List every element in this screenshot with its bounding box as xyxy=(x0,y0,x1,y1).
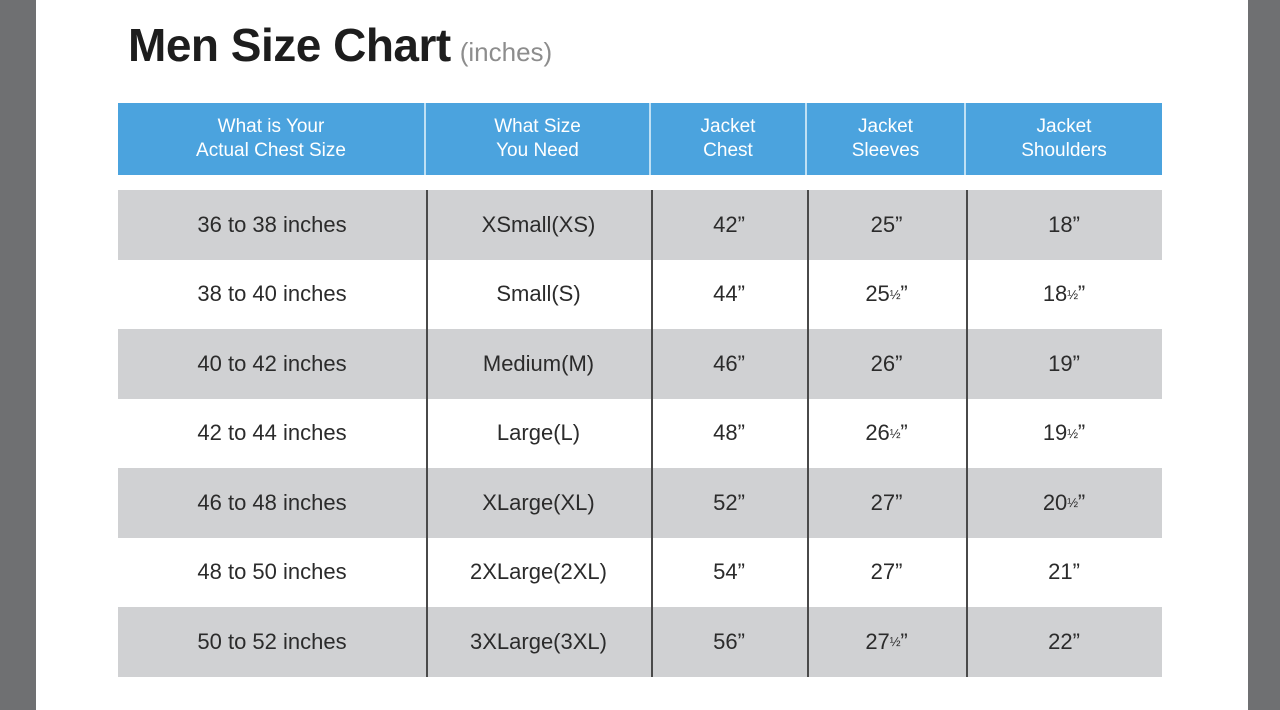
column-header-line: You Need xyxy=(494,139,581,163)
column-header-jacket-chest: Jacket Chest xyxy=(651,103,807,175)
column-header-actual-chest-size: What is Your Actual Chest Size xyxy=(118,103,426,175)
cell-size-you-need: XLarge(XL) xyxy=(426,468,651,538)
cell-size-you-need: 2XLarge(2XL) xyxy=(426,538,651,608)
slide-stage: Men Size Chart (inches) What is Your Act… xyxy=(0,0,1280,710)
table-header-row: What is Your Actual Chest Size What Size… xyxy=(118,103,1162,175)
column-header-line: What Size xyxy=(494,115,581,139)
cell-size-you-need: Medium(M) xyxy=(426,329,651,399)
letterbox-left-bar xyxy=(0,0,36,710)
table-row: 48 to 50 inches 2XLarge(2XL) 54” 27” 21” xyxy=(118,538,1162,608)
column-header-line: Chest xyxy=(701,139,756,163)
column-header-jacket-sleeves: Jacket Sleeves xyxy=(807,103,966,175)
page-title-main: Men Size Chart xyxy=(128,18,451,72)
cell-jacket-sleeves: 27” xyxy=(807,538,966,608)
size-chart-table: What is Your Actual Chest Size What Size… xyxy=(118,103,1162,677)
cell-jacket-chest: 54” xyxy=(651,538,807,608)
cell-jacket-sleeves: 25½” xyxy=(807,260,966,330)
cell-actual-chest-size: 50 to 52 inches xyxy=(118,607,426,677)
table-row: 36 to 38 inches XSmall(XS) 42” 25” 18” xyxy=(118,190,1162,260)
cell-jacket-sleeves: 27½” xyxy=(807,607,966,677)
cell-actual-chest-size: 40 to 42 inches xyxy=(118,329,426,399)
cell-jacket-sleeves: 26” xyxy=(807,329,966,399)
table-row: 46 to 48 inches XLarge(XL) 52” 27” 20½” xyxy=(118,468,1162,538)
page-title: Men Size Chart (inches) xyxy=(128,18,552,72)
cell-jacket-chest: 48” xyxy=(651,399,807,469)
column-header-line: What is Your xyxy=(196,115,346,139)
cell-jacket-sleeves: 26½” xyxy=(807,399,966,469)
letterbox-right-bar xyxy=(1248,0,1280,710)
column-header-line: Shoulders xyxy=(1021,139,1107,163)
cell-jacket-chest: 52” xyxy=(651,468,807,538)
table-row: 40 to 42 inches Medium(M) 46” 26” 19” xyxy=(118,329,1162,399)
column-header-jacket-shoulders: Jacket Shoulders xyxy=(966,103,1162,175)
column-header-line: Jacket xyxy=(701,115,756,139)
cell-jacket-chest: 56” xyxy=(651,607,807,677)
cell-jacket-shoulders: 19” xyxy=(966,329,1162,399)
cell-jacket-chest: 44” xyxy=(651,260,807,330)
cell-actual-chest-size: 46 to 48 inches xyxy=(118,468,426,538)
cell-jacket-shoulders: 22” xyxy=(966,607,1162,677)
column-header-line: Sleeves xyxy=(852,139,920,163)
cell-actual-chest-size: 48 to 50 inches xyxy=(118,538,426,608)
cell-jacket-shoulders: 19½” xyxy=(966,399,1162,469)
cell-size-you-need: 3XLarge(3XL) xyxy=(426,607,651,677)
page-title-unit: (inches) xyxy=(460,37,552,68)
cell-size-you-need: Large(L) xyxy=(426,399,651,469)
cell-jacket-chest: 42” xyxy=(651,190,807,260)
column-header-line: Jacket xyxy=(1021,115,1107,139)
cell-actual-chest-size: 36 to 38 inches xyxy=(118,190,426,260)
table-row: 50 to 52 inches 3XLarge(3XL) 56” 27½” 22… xyxy=(118,607,1162,677)
table-body: 36 to 38 inches XSmall(XS) 42” 25” 18” 3… xyxy=(118,190,1162,677)
slide-canvas: Men Size Chart (inches) What is Your Act… xyxy=(36,0,1248,710)
cell-size-you-need: XSmall(XS) xyxy=(426,190,651,260)
cell-jacket-sleeves: 25” xyxy=(807,190,966,260)
table-row: 42 to 44 inches Large(L) 48” 26½” 19½” xyxy=(118,399,1162,469)
cell-jacket-shoulders: 18½” xyxy=(966,260,1162,330)
cell-jacket-sleeves: 27” xyxy=(807,468,966,538)
column-header-line: Actual Chest Size xyxy=(196,139,346,163)
cell-jacket-shoulders: 18” xyxy=(966,190,1162,260)
cell-jacket-chest: 46” xyxy=(651,329,807,399)
cell-jacket-shoulders: 20½” xyxy=(966,468,1162,538)
column-header-size-you-need: What Size You Need xyxy=(426,103,651,175)
cell-actual-chest-size: 38 to 40 inches xyxy=(118,260,426,330)
table-row: 38 to 40 inches Small(S) 44” 25½” 18½” xyxy=(118,260,1162,330)
cell-size-you-need: Small(S) xyxy=(426,260,651,330)
cell-actual-chest-size: 42 to 44 inches xyxy=(118,399,426,469)
column-header-line: Jacket xyxy=(852,115,920,139)
cell-jacket-shoulders: 21” xyxy=(966,538,1162,608)
